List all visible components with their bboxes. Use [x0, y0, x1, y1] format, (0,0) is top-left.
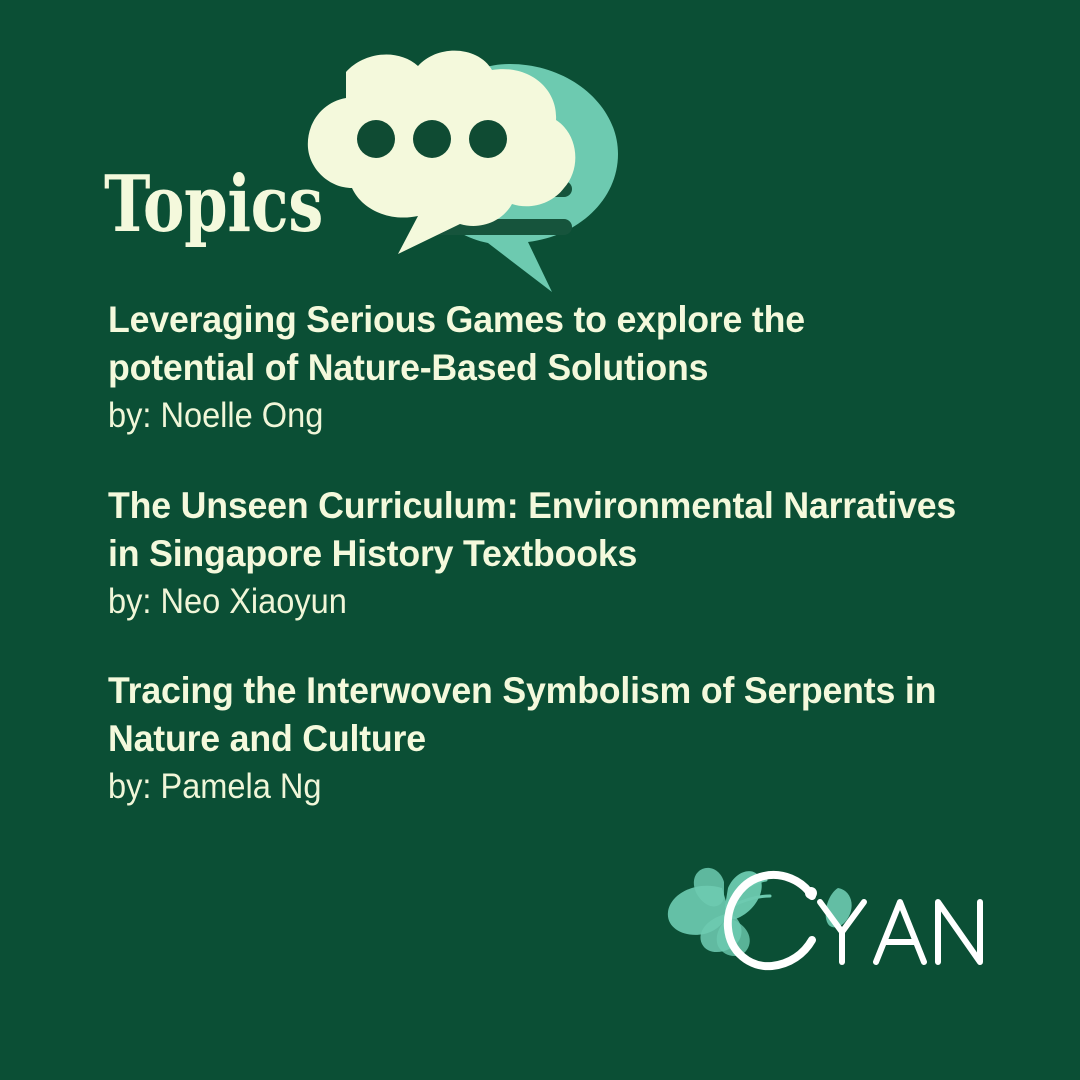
list-item: Tracing the Interwoven Symbolism of Serp…	[108, 667, 1008, 809]
cyan-logo	[662, 866, 992, 976]
logo-letter-c	[728, 875, 817, 966]
topic-title: Tracing the Interwoven Symbolism of Serp…	[108, 667, 957, 763]
topic-title: Leveraging Serious Games to explore the …	[108, 296, 957, 392]
topics-poster: Topics Leveraging Serious Games to explo…	[0, 0, 1080, 1080]
topic-list: Leveraging Serious Games to explore the …	[108, 296, 1008, 809]
topic-byline: by: Neo Xiaoyun	[108, 580, 945, 623]
page-title: Topics	[104, 166, 323, 244]
topic-byline: by: Pamela Ng	[108, 765, 945, 808]
list-item: The Unseen Curriculum: Environmental Nar…	[108, 482, 1008, 624]
list-item: Leveraging Serious Games to explore the …	[108, 296, 1008, 438]
topic-title: The Unseen Curriculum: Environmental Nar…	[108, 482, 957, 578]
topic-byline: by: Noelle Ong	[108, 394, 945, 437]
